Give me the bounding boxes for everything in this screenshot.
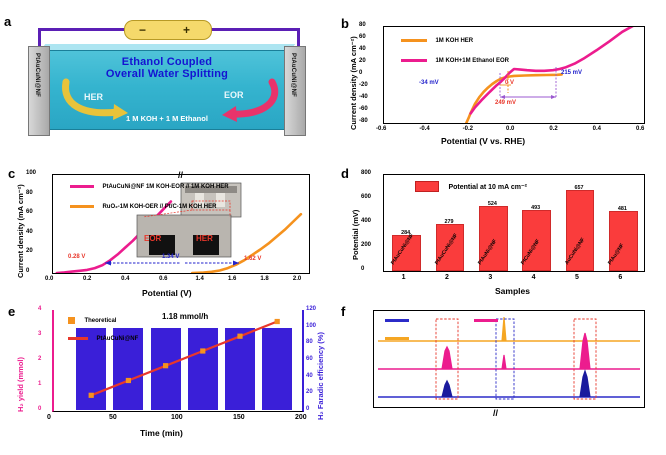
axis-tick: 0 xyxy=(306,406,309,412)
panel-e-legend-item-1: PtAuCuNi@NF xyxy=(68,330,138,348)
bar-value-label: 284 xyxy=(399,230,413,236)
legend-swatch-ptaucuni xyxy=(70,185,94,188)
her-label: HER xyxy=(84,92,103,102)
eor-label: EOR xyxy=(224,90,244,100)
axis-tick: 40 xyxy=(26,229,33,235)
legend-swatch-her xyxy=(401,39,427,42)
axis-tick: 120 xyxy=(306,306,316,312)
axis-tick: 400 xyxy=(361,218,371,224)
panel-b-lsv-chart: b Current density (mA cm⁻²) -80-60-40-20… xyxy=(345,18,655,148)
axis-tick: 0.4 xyxy=(121,276,129,282)
legend-swatch-theoretical xyxy=(68,317,75,324)
panel-c-legend: PtAuCuNi@NF 1M KOH-EOR // 1M KOH HER RuO… xyxy=(70,178,229,216)
panel-c-two-electrode-chart: c Current density (mA cm⁻²) 020406080100… xyxy=(12,168,322,300)
annotation-minus34mv: -34 mV xyxy=(419,80,439,86)
panel-e-legend: Theoretical PtAuCuNi@NF xyxy=(68,312,138,348)
wire-top-right xyxy=(208,28,300,31)
axis-tick: 1.6 xyxy=(228,276,236,282)
cathode-label: PtAuCuNi@NF xyxy=(34,53,40,97)
axis-tick: 0.0 xyxy=(45,276,53,282)
panel-a-label: a xyxy=(4,14,11,29)
bar-value-label: 493 xyxy=(529,205,543,211)
legend-swatch-after-eor xyxy=(474,319,498,322)
axis-tick: 20 xyxy=(359,58,366,64)
bar: AuCuNi@NF xyxy=(566,190,595,271)
power-supply: − + xyxy=(124,20,212,40)
panel-b-y-axis-title: Current density (mA cm⁻²) xyxy=(349,36,358,130)
bar-category-label: PtAuNi@NF xyxy=(477,238,498,266)
axis-tick: 0 xyxy=(26,268,29,274)
panel-e-legend-item-0: Theoretical xyxy=(68,312,138,330)
data-marker xyxy=(275,319,280,324)
bar-category-label: PtAu@NF xyxy=(607,243,625,266)
bar-value-label: 279 xyxy=(442,219,456,225)
axis-tick: 1 xyxy=(402,274,406,281)
axis-tick: 0 xyxy=(359,70,362,76)
legend-swatch-acetic-std xyxy=(385,337,409,340)
battery-minus-sign: − xyxy=(139,23,146,37)
annotation-028v: 0.28 V xyxy=(68,254,85,260)
panel-d-y-axis-title: Potential (mV) xyxy=(351,210,360,260)
axis-tick: 200 xyxy=(361,242,371,248)
axis-tick: 0.0 xyxy=(506,126,514,132)
data-marker xyxy=(237,334,242,339)
legend-label-eor: 1M KOH+1M Ethanol EOR xyxy=(435,58,509,64)
axis-tick: -0.6 xyxy=(376,126,386,132)
axis-tick: 60 xyxy=(306,356,313,362)
panel-c-y-axis-title: Current density (mA cm⁻²) xyxy=(16,184,25,278)
panel-d-label: d xyxy=(341,166,349,181)
axis-tick: 2 xyxy=(38,356,41,362)
axis-tick: 20 xyxy=(26,248,33,254)
data-marker xyxy=(89,393,94,398)
axis-tick: 4 xyxy=(532,274,536,281)
data-marker xyxy=(126,378,131,383)
axis-tick: 100 xyxy=(171,414,183,421)
bar: PtAuNi@NF xyxy=(479,206,508,271)
annotation-162v: 1.62 V xyxy=(244,256,261,262)
axis-tick: 3 xyxy=(488,274,492,281)
panel-f-legend-item-0 xyxy=(385,312,502,330)
legend-swatch-ruo2 xyxy=(70,205,94,208)
legend-label-her: 1M KOH HER xyxy=(435,38,473,44)
axis-tick: 6 xyxy=(618,274,622,281)
axis-tick: 0.6 xyxy=(636,126,644,132)
annotation-0v: 0 V xyxy=(505,80,514,86)
data-marker xyxy=(163,363,168,368)
axis-tick: -40 xyxy=(359,94,368,100)
axis-tick: 100 xyxy=(306,323,316,329)
legend-label-theoretical: Theoretical xyxy=(84,318,116,324)
axis-tick: 1.8 xyxy=(260,276,268,282)
wire-top-left xyxy=(38,28,126,31)
axis-tick: 1 xyxy=(38,381,41,387)
panel-b-label: b xyxy=(341,16,349,31)
axis-tick: 2.0 xyxy=(293,276,301,282)
panel-f-nmr-chart: f xyxy=(345,308,655,448)
panel-f-label: f xyxy=(341,304,345,319)
legend-label-potential: Potential at 10 mA cm⁻² xyxy=(448,184,527,191)
axis-tick: 0 xyxy=(47,414,51,421)
axis-tick: -0.2 xyxy=(463,126,473,132)
axis-tick: 80 xyxy=(306,339,313,345)
axis-tick: -0.4 xyxy=(419,126,429,132)
axis-tick: 800 xyxy=(361,170,371,176)
bar: PtAuCuNi@NF xyxy=(392,235,421,271)
panel-f-legend-item-1 xyxy=(385,330,502,348)
panel-c-legend-item-1: RuO₂-1M KOH-OER // Pt/C-1M KOH HER xyxy=(70,198,229,216)
inset-label-her: HER xyxy=(196,234,213,243)
axis-tick: 50 xyxy=(109,414,117,421)
axis-tick: 0.2 xyxy=(549,126,557,132)
inset-label-eor: EOR xyxy=(144,234,161,243)
annotation-249mv: 249 mV xyxy=(495,100,516,106)
annotation-rate: 1.18 mmol/h xyxy=(162,312,208,321)
legend-label-ptaucuni-e: PtAuCuNi@NF xyxy=(96,336,138,342)
axis-tick: -80 xyxy=(359,118,368,124)
bar-value-label: 657 xyxy=(572,185,586,191)
axis-tick: 200 xyxy=(295,414,307,421)
axis-tick: 3 xyxy=(38,331,41,337)
battery-plus-sign: + xyxy=(183,23,190,37)
axis-tick: 600 xyxy=(361,194,371,200)
panel-d-bar-chart: d Potential (mV) 0200400600800 PtAuCuNi@… xyxy=(345,168,655,300)
annotation-215mv: 215 mV xyxy=(561,70,582,76)
bar-category-label: PtAuCuNi@NF xyxy=(390,233,415,266)
legend-swatch-eor xyxy=(401,59,427,62)
axis-tick: 40 xyxy=(306,373,313,379)
bar: PtAuCuNi@NF xyxy=(436,224,465,271)
panel-e-left-y-axis-title: H₂ yield (mmol) xyxy=(16,357,25,412)
data-marker xyxy=(200,348,205,353)
axis-tick: 20 xyxy=(306,389,313,395)
panel-c-x-axis-title: Potential (V) xyxy=(142,288,192,298)
axis-tick: 40 xyxy=(359,46,366,52)
panel-c-legend-item-0: PtAuCuNi@NF 1M KOH-EOR // 1M KOH HER xyxy=(70,178,229,196)
axis-tick: -60 xyxy=(359,106,368,112)
axis-tick: 0 xyxy=(361,266,364,272)
panel-b-legend: 1M KOH HER 1M KOH+1M Ethanol EOR xyxy=(401,32,509,70)
legend-label-ptaucuni: PtAuCuNi@NF 1M KOH-EOR // 1M KOH HER xyxy=(102,184,228,190)
bar-value-label: 481 xyxy=(615,206,629,212)
axis-tick: 0.4 xyxy=(593,126,601,132)
legend-swatch-ptaucuni-e xyxy=(68,337,88,340)
axis-tick: 60 xyxy=(26,209,33,215)
schematic-title-line1: Ethanol Coupled xyxy=(64,56,270,68)
panel-f-legend xyxy=(385,312,502,348)
panel-d-legend: Potential at 10 mA cm⁻² xyxy=(415,178,527,196)
panel-e-label: e xyxy=(8,304,15,319)
panel-c-label: c xyxy=(8,166,15,181)
panel-b-x-axis-title: Potential (V vs. RHE) xyxy=(441,136,525,146)
axis-tick: 100 xyxy=(26,170,36,176)
axis-tick: 80 xyxy=(359,22,366,28)
anode-label: PtAuCuNi@NF xyxy=(290,53,296,97)
legend-swatch-potential xyxy=(415,181,439,192)
panel-e-right-y-axis-title: H₂ Faradic efficiency (%) xyxy=(316,332,325,420)
axis-tick: 1.4 xyxy=(195,276,203,282)
axis-tick: 0 xyxy=(38,406,41,412)
axis-tick: 4 xyxy=(38,306,41,312)
panel-b-legend-item-0: 1M KOH HER xyxy=(401,32,509,50)
bar-category-label: AuCuNi@NF xyxy=(564,237,586,266)
axis-tick: 0.6 xyxy=(159,276,167,282)
annotation-134v: 1.34 V xyxy=(162,254,179,260)
bar-value-label: 524 xyxy=(485,201,499,207)
legend-label-ruo2: RuO₂-1M KOH-OER // Pt/C-1M KOH HER xyxy=(102,204,216,210)
axis-tick: -20 xyxy=(359,82,368,88)
panel-d-x-axis-title: Samples xyxy=(495,286,530,296)
panel-e-x-axis-title: Time (min) xyxy=(140,428,183,438)
electrolyte-label: 1 M KOH + 1 M Ethanol xyxy=(42,114,292,123)
panel-f-axis-break-marker: // xyxy=(493,408,498,418)
bar: PtCuNi@NF xyxy=(522,210,551,271)
axis-tick: 0.2 xyxy=(83,276,91,282)
panel-e-h2-yield-chart: e H₂ yield (mmol) H₂ Faradic efficiency … xyxy=(12,308,322,448)
axis-tick: 80 xyxy=(26,190,33,196)
bar-category-label: PtAuCuNi@NF xyxy=(434,233,459,266)
axis-tick: 150 xyxy=(233,414,245,421)
axis-tick: 60 xyxy=(359,34,366,40)
legend-swatch-ethanol-std xyxy=(385,319,409,322)
axis-tick: 2 xyxy=(445,274,449,281)
panel-c-axis-break-marker: // xyxy=(178,170,183,180)
bar-category-label: PtCuNi@NF xyxy=(520,238,541,266)
bar: PtAu@NF xyxy=(609,211,638,271)
panel-a-schematic: a − + PtAuCuNi@NF PtAuCuNi@NF Ethanol Co… xyxy=(12,18,322,148)
panel-b-legend-item-1: 1M KOH+1M Ethanol EOR xyxy=(401,52,509,70)
axis-tick: 5 xyxy=(575,274,579,281)
